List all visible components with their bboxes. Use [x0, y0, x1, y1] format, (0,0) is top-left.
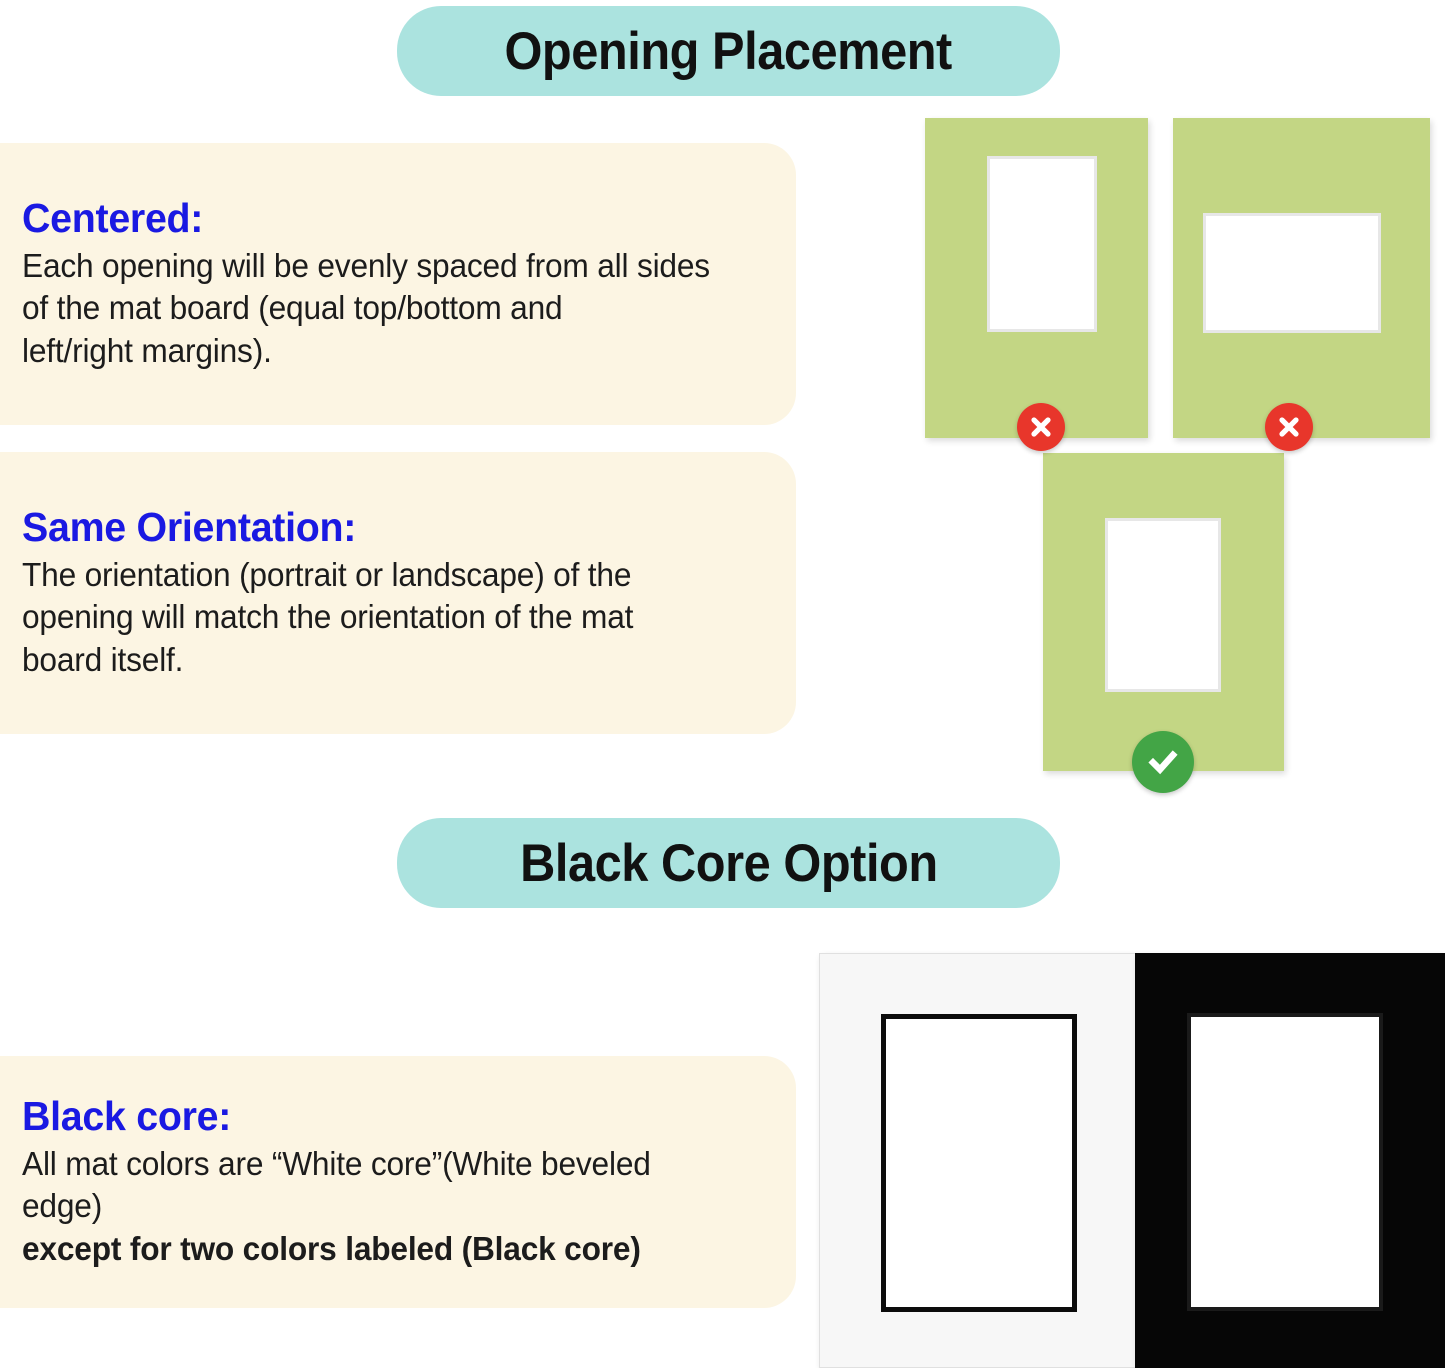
info-card-centered-line-1: Each opening will be evenly spaced from …	[22, 245, 727, 288]
infographic-page: Opening Placement Centered: Each opening…	[0, 0, 1445, 1368]
x-mark-icon	[1017, 403, 1065, 451]
mat-sample-opening-black	[1187, 1013, 1383, 1311]
info-card-same-orientation-line-3: board itself.	[22, 639, 727, 682]
info-card-centered-line-2: of the mat board (equal top/bottom and	[22, 287, 727, 330]
section-banner-opening-placement: Opening Placement	[397, 6, 1060, 96]
mat-board-example-landscape-opening	[1173, 118, 1430, 438]
mat-sample-white-mat-black-core	[819, 953, 1137, 1368]
x-mark-icon	[1265, 403, 1313, 451]
info-card-same-orientation-line-1: The orientation (portrait or landscape) …	[22, 554, 727, 597]
info-card-centered-line-3: left/right margins).	[22, 330, 727, 373]
info-card-black-core: Black core: All mat colors are “White co…	[0, 1056, 796, 1308]
mat-board-example-centered-portrait	[1043, 453, 1284, 771]
info-card-centered: Centered: Each opening will be evenly sp…	[0, 143, 796, 425]
info-card-same-orientation-line-2: opening will match the orientation of th…	[22, 596, 727, 639]
mat-opening-portrait-offset	[987, 156, 1097, 332]
info-card-black-core-line-bold: except for two colors labeled (Black cor…	[22, 1228, 727, 1271]
mat-opening-portrait-centered	[1105, 518, 1221, 692]
info-card-same-orientation: Same Orientation: The orientation (portr…	[0, 452, 796, 734]
mat-sample-black-mat-black-core	[1135, 953, 1445, 1368]
info-card-black-core-line-regular: All mat colors are “White core”(White be…	[22, 1143, 727, 1228]
mat-sample-opening-white	[881, 1014, 1077, 1312]
info-card-same-orientation-heading: Same Orientation:	[22, 505, 727, 551]
check-mark-icon	[1132, 731, 1194, 793]
mat-board-example-offset-portrait	[925, 118, 1148, 438]
mat-opening-landscape	[1203, 213, 1381, 333]
info-card-black-core-heading: Black core:	[22, 1094, 727, 1140]
section-banner-opening-placement-label: Opening Placement	[505, 21, 952, 82]
info-card-centered-heading: Centered:	[22, 196, 727, 242]
section-banner-black-core-option-label: Black Core Option	[520, 833, 938, 894]
section-banner-black-core-option: Black Core Option	[397, 818, 1060, 908]
